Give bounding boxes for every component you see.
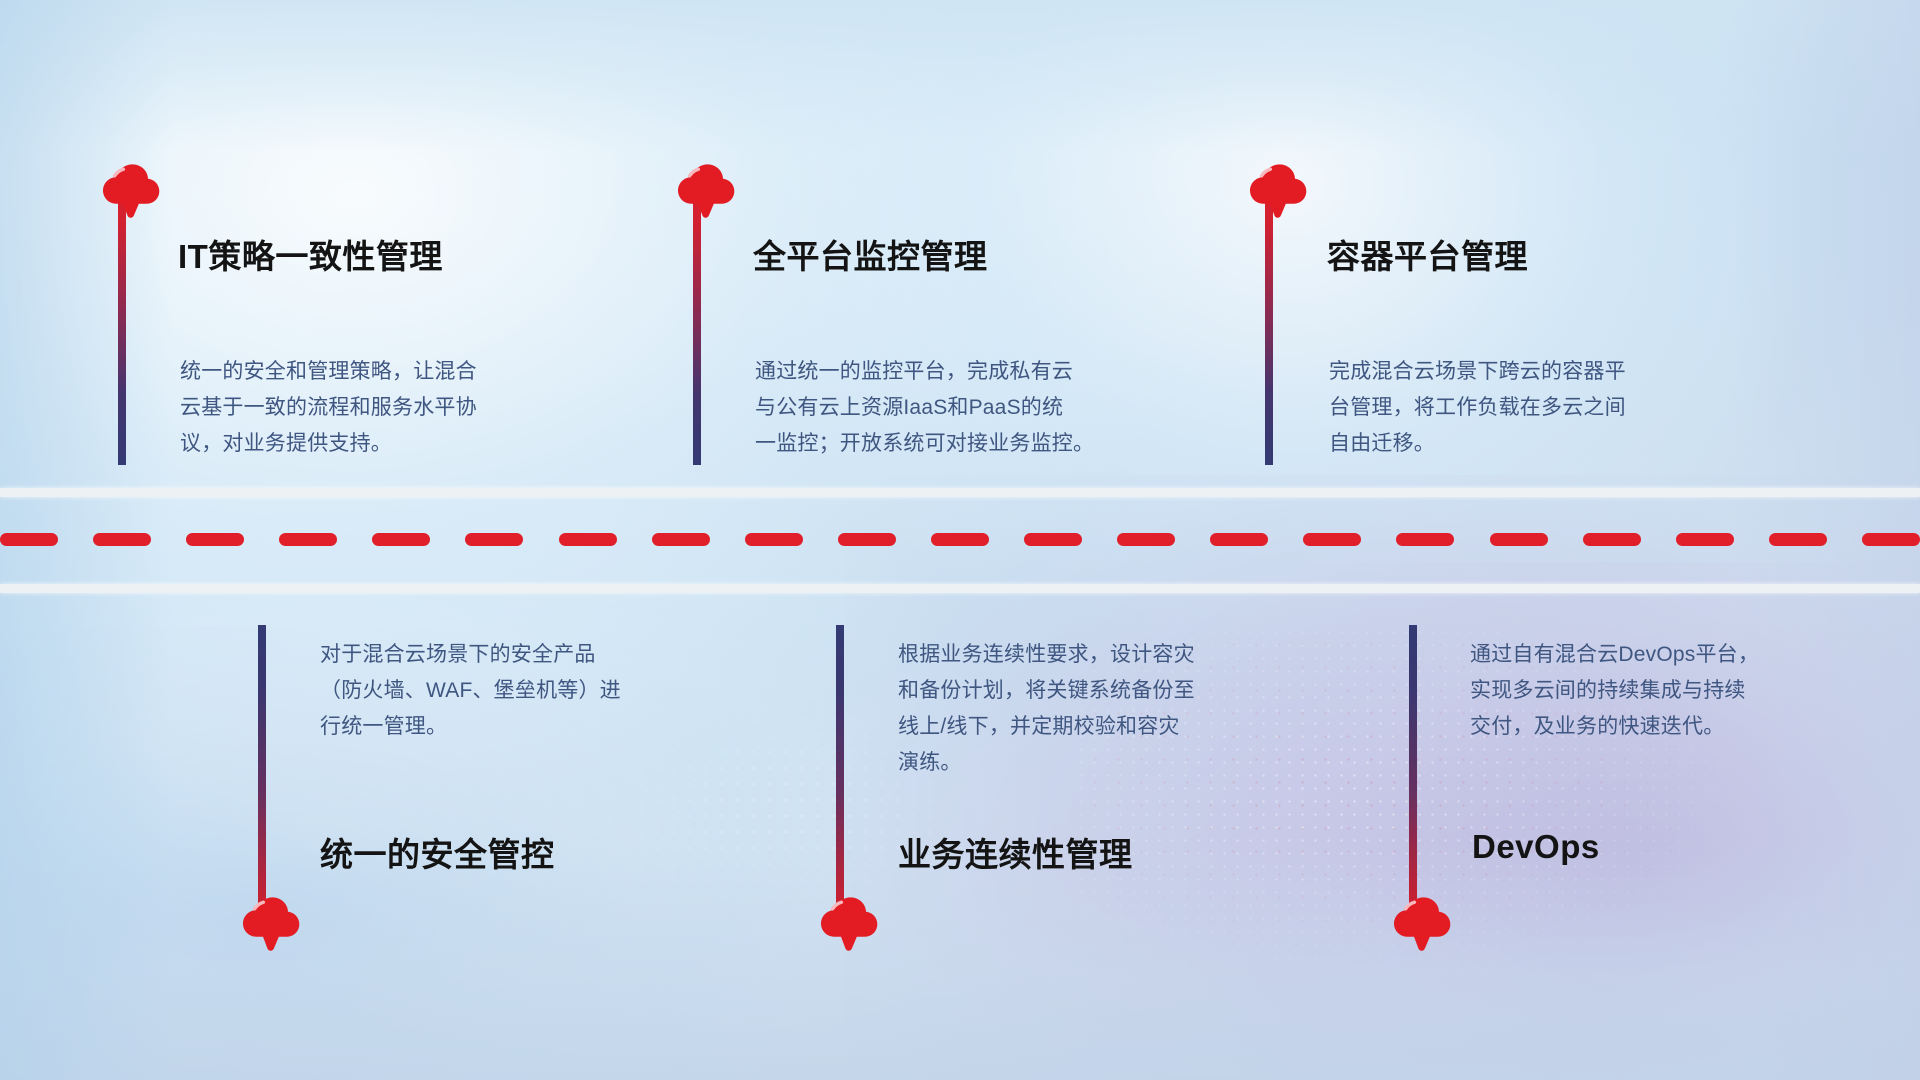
desc-line: 与公有云上资源IaaS和PaaS的统 [755, 390, 1094, 426]
bottom-item-1-description: 对于混合云场景下的安全产品 （防火墙、WAF、堡垒机等）进 行统一管理。 [320, 637, 621, 745]
bottom-item-1-title: 统一的安全管控 [320, 828, 555, 876]
divider-dash [1303, 533, 1361, 546]
top-item-1-title: IT策略一致性管理 [178, 230, 443, 278]
top-item-3-description: 完成混合云场景下跨云的容器平 台管理，将工作负载在多云之间 自由迁移。 [1329, 354, 1626, 462]
desc-line: 对于混合云场景下的安全产品 [320, 637, 621, 673]
top-item-2-title: 全平台监控管理 [753, 230, 988, 278]
desc-line: 和备份计划，将关键系统备份至 [898, 673, 1195, 709]
cloud-pin-icon [1242, 160, 1314, 218]
divider-dash [1117, 533, 1175, 546]
divider-dash [1583, 533, 1641, 546]
divider-dash [931, 533, 989, 546]
top-item-3-stem [1265, 180, 1273, 465]
divider-dash [186, 533, 244, 546]
divider-dash [0, 533, 58, 546]
divider-dash [652, 533, 710, 546]
divider-rule-top [0, 488, 1920, 497]
bottom-item-1-stem [258, 625, 266, 915]
cloud-pin-icon [235, 893, 307, 951]
desc-line: 台管理，将工作负载在多云之间 [1329, 390, 1626, 426]
top-item-1-stem [118, 180, 126, 465]
bottom-item-3-description: 通过自有混合云DevOps平台， 实现多云间的持续集成与持续 交付，及业务的快速… [1470, 637, 1759, 745]
bottom-item-2-stem [836, 625, 844, 915]
cloud-pin-icon [1386, 893, 1458, 951]
desc-line: 行统一管理。 [320, 709, 621, 745]
divider-dash [1024, 533, 1082, 546]
desc-line: 线上/线下，并定期校验和容灾 [898, 709, 1195, 745]
divider-dash [1210, 533, 1268, 546]
divider-rule-bottom [0, 584, 1920, 593]
desc-line: 完成混合云场景下跨云的容器平 [1329, 354, 1626, 390]
top-item-3-title: 容器平台管理 [1327, 230, 1528, 278]
desc-line: （防火墙、WAF、堡垒机等）进 [320, 673, 621, 709]
desc-line: 一监控；开放系统可对接业务监控。 [755, 426, 1094, 462]
top-item-1-description: 统一的安全和管理策略，让混合 云基于一致的流程和服务水平协 议，对业务提供支持。 [180, 354, 477, 462]
infographic-canvas: IT策略一致性管理 统一的安全和管理策略，让混合 云基于一致的流程和服务水平协 … [0, 0, 1920, 1080]
cloud-pin-icon [813, 893, 885, 951]
top-item-2-description: 通过统一的监控平台，完成私有云 与公有云上资源IaaS和PaaS的统 一监控；开… [755, 354, 1094, 462]
bottom-item-2-description: 根据业务连续性要求，设计容灾 和备份计划，将关键系统备份至 线上/线下，并定期校… [898, 637, 1195, 781]
desc-line: 通过自有混合云DevOps平台， [1470, 637, 1759, 673]
desc-line: 议，对业务提供支持。 [180, 426, 477, 462]
desc-line: 云基于一致的流程和服务水平协 [180, 390, 477, 426]
bottom-item-3-title: DevOps [1472, 828, 1600, 866]
divider-dash [93, 533, 151, 546]
desc-line: 实现多云间的持续集成与持续 [1470, 673, 1759, 709]
divider-dash [745, 533, 803, 546]
divider-dash [1862, 533, 1920, 546]
divider-dash [372, 533, 430, 546]
divider-dash [559, 533, 617, 546]
divider-dash [465, 533, 523, 546]
desc-line: 演练。 [898, 745, 1195, 781]
divider-dashed-line [0, 532, 1920, 547]
desc-line: 通过统一的监控平台，完成私有云 [755, 354, 1094, 390]
divider-dash [1676, 533, 1734, 546]
background-top-fade [0, 0, 1920, 151]
desc-line: 交付，及业务的快速迭代。 [1470, 709, 1759, 745]
desc-line: 自由迁移。 [1329, 426, 1626, 462]
bottom-item-3-stem [1409, 625, 1417, 915]
divider-dash [1769, 533, 1827, 546]
divider-dash [1490, 533, 1548, 546]
background-bottom-fade [0, 842, 1920, 1080]
bottom-item-2-title: 业务连续性管理 [898, 828, 1133, 876]
divider-dash [838, 533, 896, 546]
cloud-pin-icon [95, 160, 167, 218]
top-item-2-stem [693, 180, 701, 465]
cloud-pin-icon [670, 160, 742, 218]
desc-line: 统一的安全和管理策略，让混合 [180, 354, 477, 390]
divider-dash [279, 533, 337, 546]
divider-band [0, 488, 1920, 598]
divider-dash [1396, 533, 1454, 546]
desc-line: 根据业务连续性要求，设计容灾 [898, 637, 1195, 673]
